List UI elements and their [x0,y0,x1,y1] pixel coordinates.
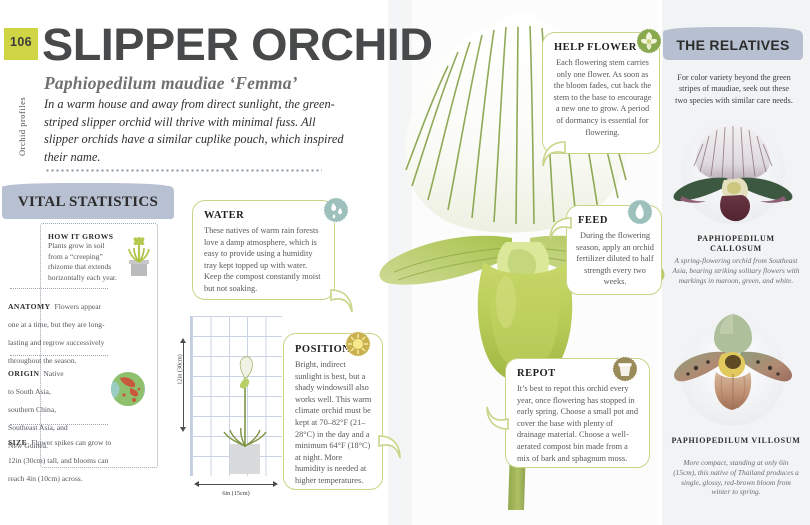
vital-statistics-heading: VITAL STATISTICS [2,194,174,211]
page-intro-text: In a warm house and away from direct sun… [44,96,344,166]
globe-icon [111,372,145,406]
callout-title: FEED [578,215,608,226]
callout-help-flower-tail [540,140,566,168]
callout-position: POSITION Bright, indirect sunlight is be… [283,333,383,490]
relative-description-2: More compact, standing at only 6in (15cm… [672,458,800,497]
relatives-intro: For color variety beyond the green strip… [672,72,796,106]
vital-stat-how-it-grows: HOW IT GROWS Plants grow in soil from a … [48,232,118,283]
flower-icon [636,28,662,54]
book-spread-page: 106 Orchid profiles SLIPPER ORCHID Paphi… [0,0,810,525]
paphiopedilum-villosum-photo [670,310,796,432]
callout-water: WATER These natives of warm rain forests… [192,200,335,300]
plant-pot-icon [612,356,638,382]
paphiopedilum-callosum-photo [672,118,794,226]
callout-position-tail [378,434,402,460]
relative-name-2: PAPHIOPEDILUM VILLOSUM [671,436,801,446]
callout-title: POSITION [295,344,350,355]
callout-feed-tail [548,216,572,242]
relative-name-1: PAPHIOPEDILUM CALLOSUM [671,234,801,254]
vital-stat-anatomy: ANATOMY Flowers appear one at a time, bu… [8,296,112,368]
vital-stat-label: ORIGIN [8,369,39,378]
callout-title: WATER [204,210,244,221]
vital-stat-label: HOW IT GROWS [48,232,118,241]
dotted-divider [45,168,322,173]
water-drops-icon [323,197,349,223]
vital-stat-text: Plants grow in soil from a “creeping” rh… [48,241,118,283]
scale-width-label: 6in (15cm) [190,490,282,497]
vital-stat-label: ANATOMY [8,302,51,311]
vital-stat-size: SIZE Flower spikes can grow to 12in (30c… [8,432,112,486]
section-label: Orchid profiles [17,46,27,156]
callout-body: Bright, indirect sunlight is best, but a… [295,359,373,487]
scale-orchid-illustration [216,352,274,478]
leaf-drop-icon [627,199,653,225]
relative-description-1: A spring-flowering orchid from Southeast… [672,256,800,285]
callout-repot-tail [485,405,509,431]
callout-body: These natives of warm rain forests love … [204,225,323,295]
scale-height-label: 12in (30cm) [177,335,184,405]
callout-water-tail [330,288,354,314]
callout-body: It’s best to repot this orchid every yea… [517,383,639,464]
vital-stat-divider [10,288,108,289]
width-dimension-arrow [194,479,278,489]
vital-stat-divider [10,355,108,356]
potted-plant-icon [122,233,156,277]
vital-stat-divider [10,424,108,425]
page-subtitle-botanical-name: Paphiopedilum maudiae ‘Femma’ [44,73,298,94]
sun-icon [345,331,371,357]
callout-title: HELP FLOWER [554,42,637,53]
relatives-heading: THE RELATIVES [663,37,803,53]
page-title: SLIPPER ORCHID [42,22,433,67]
callout-body: During the flowering season, apply an or… [575,230,655,288]
vital-stat-label: SIZE [8,438,27,447]
callout-title: REPOT [517,368,556,379]
callout-body: Each flowering stem carries only one flo… [552,57,653,138]
